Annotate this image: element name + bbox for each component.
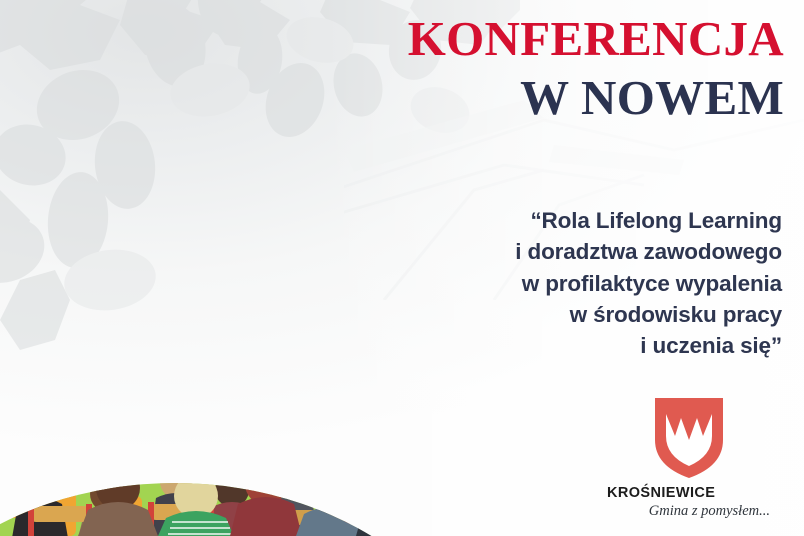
quote-line-4: w środowisku pracy [362,299,782,330]
headline-line-1: KONFERENCJA [284,16,784,61]
krosniewice-coat-of-arms-shield-icon [653,396,725,480]
quote-line-1: “Rola Lifelong Learning [362,205,782,236]
conference-topic-quote: “Rola Lifelong Learning i doradztwa zawo… [362,205,782,361]
logo-tagline: Gmina z pomysłem... [601,503,770,520]
quote-line-2: i doradztwa zawodowego [362,236,782,267]
krosniewice-logo: KROŚNIEWICE Gmina z pomysłem... [601,396,776,520]
headline-line-2: W NOWEM [284,75,784,120]
quote-line-5: i uczenia się” [362,330,782,361]
conference-poster: KONFERENCJA W NOWEM “Rola Lifelong Learn… [0,0,804,536]
logo-municipality-name: KROŚNIEWICE [607,486,776,502]
poster-headline: KONFERENCJA W NOWEM [284,16,784,120]
quote-line-3: w profilaktyce wypalenia [362,268,782,299]
